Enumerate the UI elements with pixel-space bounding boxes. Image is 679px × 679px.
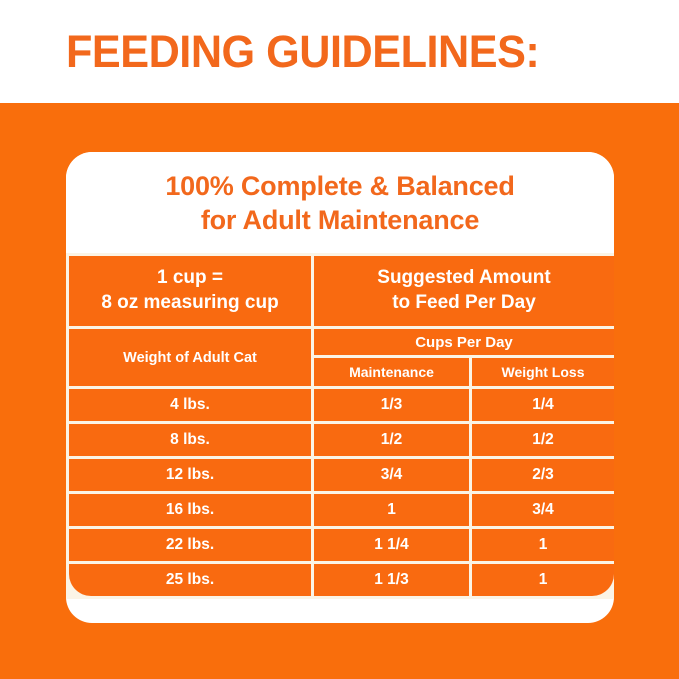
column-header-maintenance: Maintenance: [314, 358, 469, 386]
page-title: FEEDING GUIDELINES:: [66, 29, 539, 74]
cell-weight: 8 lbs.: [69, 424, 311, 456]
suggested-line-1: Suggested Amount: [314, 266, 614, 291]
cell-maintenance: 1: [314, 494, 469, 526]
cell-weight-loss: 2/3: [472, 459, 614, 491]
cell-weight-loss: 1/2: [472, 424, 614, 456]
cup-note-line-1: 1 cup =: [69, 266, 311, 291]
column-header-weight: Weight of Adult Cat: [69, 329, 311, 386]
card-heading-line-2: for Adult Maintenance: [201, 204, 479, 238]
table-row: 4 lbs. 1/3 1/4: [69, 389, 614, 421]
cell-maintenance: 1/3: [314, 389, 469, 421]
cell-weight: 22 lbs.: [69, 529, 311, 561]
cell-weight: 12 lbs.: [69, 459, 311, 491]
table-row: 25 lbs. 1 1/3 1: [69, 564, 614, 596]
cell-weight-loss: 1: [472, 529, 614, 561]
feeding-table: 1 cup = 8 oz measuring cup Suggested Amo…: [66, 253, 614, 599]
feeding-card: 100% Complete & Balanced for Adult Maint…: [66, 152, 614, 623]
column-header-cups-per-day: Cups Per Day: [314, 329, 614, 355]
cell-maintenance: 3/4: [314, 459, 469, 491]
column-header-weight-loss: Weight Loss: [472, 358, 614, 386]
feeding-guidelines-page: FEEDING GUIDELINES: 100% Complete & Bala…: [0, 0, 679, 679]
suggested-amount-cell: Suggested Amount to Feed Per Day: [314, 256, 614, 326]
table-row-header-top: Weight of Adult Cat Cups Per Day: [69, 329, 614, 355]
cup-equivalence-cell: 1 cup = 8 oz measuring cup: [69, 256, 311, 326]
table-row-notes: 1 cup = 8 oz measuring cup Suggested Amo…: [69, 256, 614, 326]
cell-weight-loss: 1/4: [472, 389, 614, 421]
cell-maintenance: 1 1/3: [314, 564, 469, 596]
table-row: 8 lbs. 1/2 1/2: [69, 424, 614, 456]
table-row: 16 lbs. 1 3/4: [69, 494, 614, 526]
card-heading-line-1: 100% Complete & Balanced: [165, 170, 514, 204]
cell-weight: 4 lbs.: [69, 389, 311, 421]
cell-maintenance: 1/2: [314, 424, 469, 456]
header-strip: FEEDING GUIDELINES:: [0, 0, 679, 103]
cell-weight: 25 lbs.: [69, 564, 311, 596]
table-row: 12 lbs. 3/4 2/3: [69, 459, 614, 491]
cell-weight-loss: 3/4: [472, 494, 614, 526]
table-row: 22 lbs. 1 1/4 1: [69, 529, 614, 561]
feeding-table-wrap: 1 cup = 8 oz measuring cup Suggested Amo…: [66, 253, 614, 599]
cell-maintenance: 1 1/4: [314, 529, 469, 561]
cup-note-line-2: 8 oz measuring cup: [69, 291, 311, 316]
cell-weight: 16 lbs.: [69, 494, 311, 526]
card-heading: 100% Complete & Balanced for Adult Maint…: [66, 152, 614, 253]
suggested-line-2: to Feed Per Day: [314, 291, 614, 316]
cell-weight-loss: 1: [472, 564, 614, 596]
